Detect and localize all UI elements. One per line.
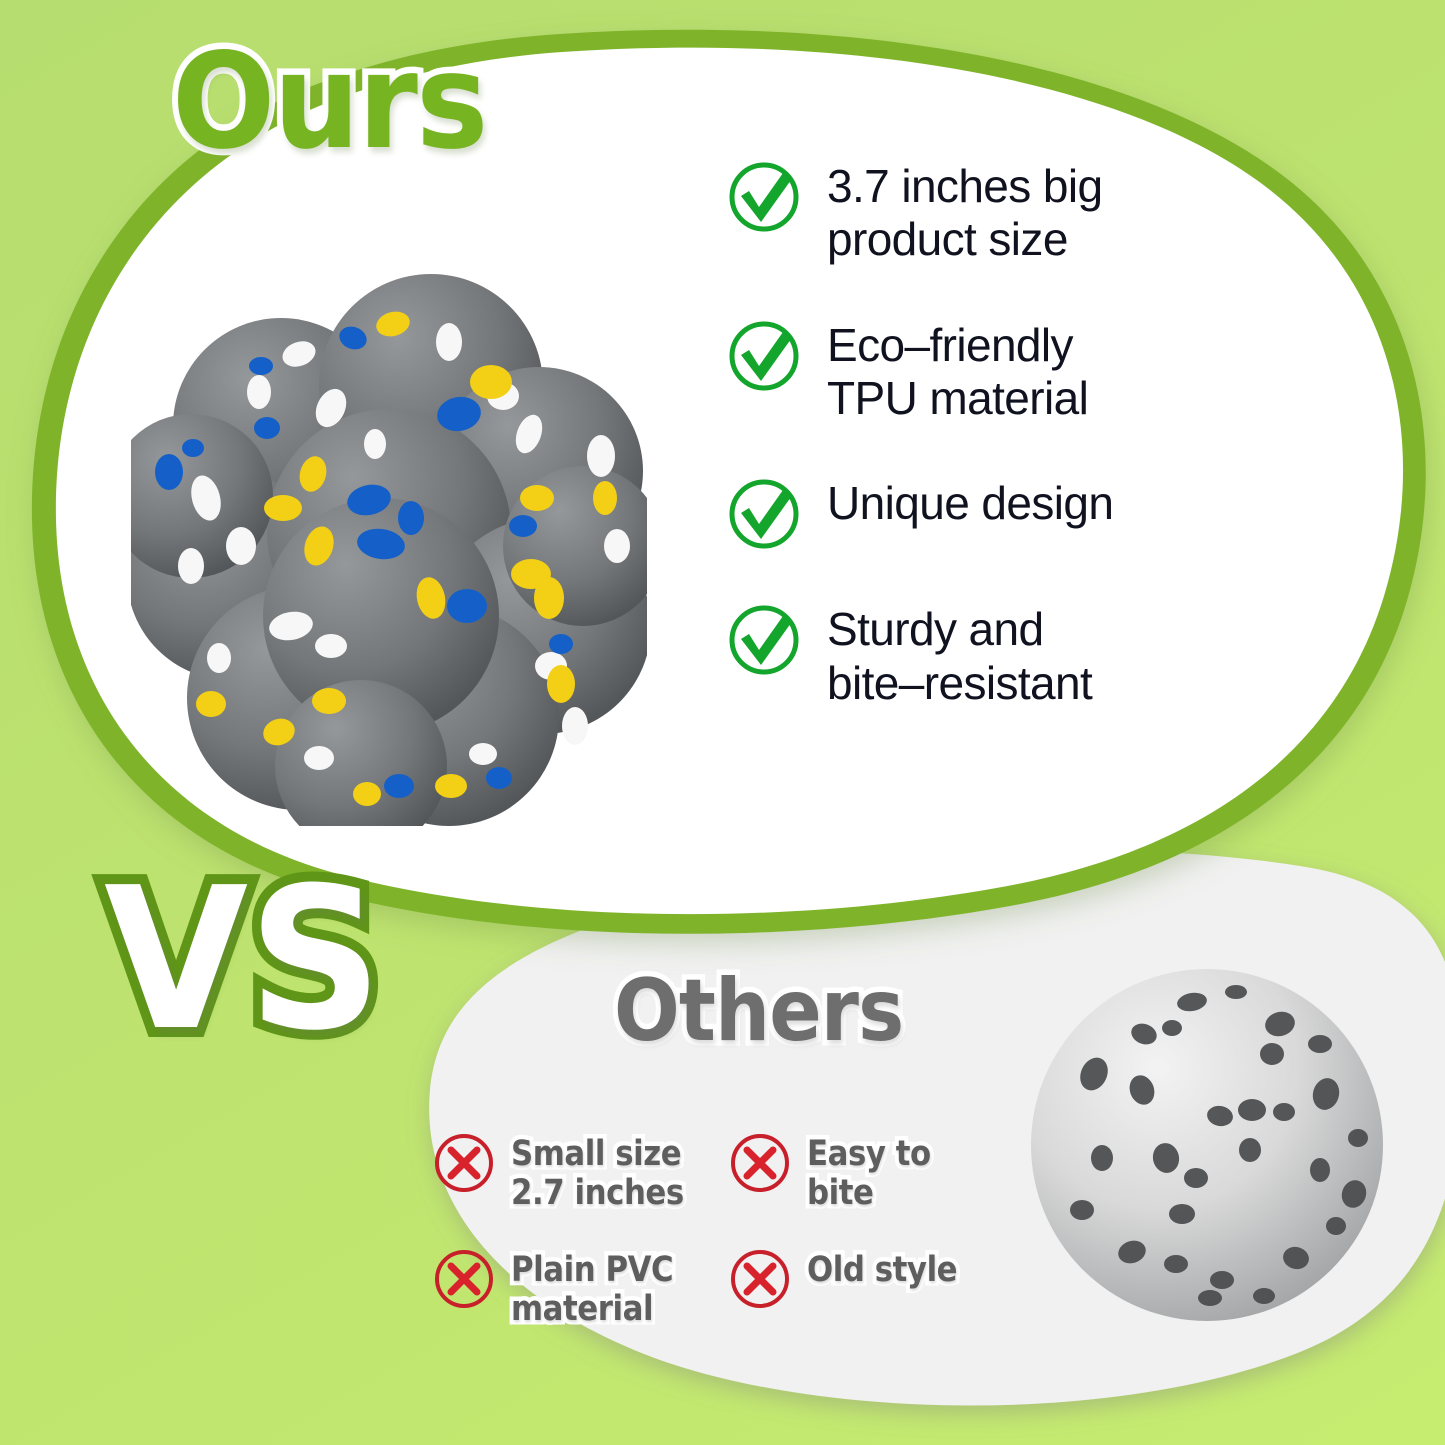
versus-label: VS xyxy=(104,862,382,1058)
others-drawback-list: Small size 2.7 inches Easy to bite Plain… xyxy=(433,1132,1013,1364)
page-title-others: Others xyxy=(614,968,903,1054)
list-item-label: Plain PVC material xyxy=(511,1248,673,1329)
circle-check-icon xyxy=(727,319,801,393)
comparison-infographic: Ours xyxy=(0,0,1445,1445)
list-item-label: Old style xyxy=(807,1248,957,1290)
page-title-ours: Ours xyxy=(172,36,487,168)
circle-cross-icon xyxy=(433,1248,495,1310)
list-item: Sturdy and bite–resistant xyxy=(727,601,1197,710)
circle-cross-icon xyxy=(729,1132,791,1194)
list-item-label: Eco–friendly TPU material xyxy=(827,317,1088,426)
circle-check-icon xyxy=(727,160,801,234)
circle-cross-icon xyxy=(729,1248,791,1310)
list-item-label: Sturdy and bite–resistant xyxy=(827,601,1092,710)
list-item: Old style xyxy=(729,1248,1013,1364)
circle-cross-icon xyxy=(433,1132,495,1194)
list-item: Eco–friendly TPU material xyxy=(727,317,1197,426)
ours-feature-list: 3.7 inches big product size Eco–friendly… xyxy=(727,158,1197,710)
circle-check-icon xyxy=(727,477,801,551)
list-item: Plain PVC material xyxy=(433,1248,729,1364)
list-item: Unique design xyxy=(727,475,1197,551)
list-item-label: Easy to bite xyxy=(807,1132,988,1213)
list-item-label: 3.7 inches big product size xyxy=(827,158,1102,267)
others-product-image xyxy=(1024,962,1390,1328)
list-item: 3.7 inches big product size xyxy=(727,158,1197,267)
ours-product-image xyxy=(131,246,647,826)
list-item-label: Small size 2.7 inches xyxy=(511,1132,684,1213)
list-item: Easy to bite xyxy=(729,1132,1013,1248)
list-item-label: Unique design xyxy=(827,475,1113,530)
circle-check-icon xyxy=(727,603,801,677)
list-item: Small size 2.7 inches xyxy=(433,1132,729,1248)
